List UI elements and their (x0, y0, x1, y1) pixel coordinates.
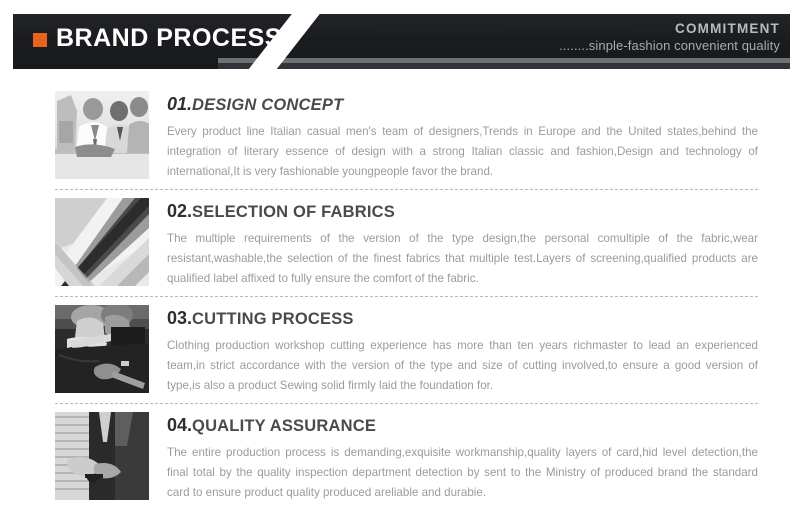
section-description: The entire production process is demandi… (167, 443, 758, 503)
section-description: Clothing production workshop cutting exp… (167, 336, 758, 396)
commitment-subtitle: ........sinple-fashion convenient qualit… (559, 37, 780, 55)
section-name: DESIGN CONCEPT (192, 96, 343, 114)
section-body: 03.CUTTING PROCESS Clothing production w… (167, 302, 803, 404)
brand-process-page: BRAND PROCESS COMMITMENT ........sinple-… (0, 0, 803, 525)
header-banner: BRAND PROCESS COMMITMENT ........sinple-… (13, 14, 790, 69)
page-title: BRAND PROCESS (56, 24, 282, 53)
section-number: 02. (167, 201, 192, 221)
process-sections-list: 01.DESIGN CONCEPT Every product line Ita… (0, 83, 803, 511)
section-body: 02.SELECTION OF FABRICS The multiple req… (167, 195, 803, 297)
section-body: 04.QUALITY ASSURANCE The entire producti… (167, 409, 803, 511)
commitment-title: COMMITMENT (559, 21, 780, 37)
section-heading: 03.CUTTING PROCESS (167, 308, 758, 329)
section-heading: 04.QUALITY ASSURANCE (167, 415, 758, 436)
section-description: The multiple requirements of the version… (167, 229, 758, 289)
process-section: 04.QUALITY ASSURANCE The entire producti… (0, 404, 803, 511)
section-heading: 01.DESIGN CONCEPT (167, 94, 758, 115)
designers-at-table-photo (55, 91, 149, 179)
banner-dark-strip (218, 63, 790, 69)
fabric-cutting-photo (55, 305, 149, 393)
fabric-rolls-photo (55, 198, 149, 286)
section-description: Every product line Italian casual men's … (167, 122, 758, 182)
quality-inspection-photo (55, 412, 149, 500)
commitment-block: COMMITMENT ........sinple-fashion conven… (559, 21, 780, 55)
brand-title-block: BRAND PROCESS (33, 24, 282, 53)
section-number: 04. (167, 415, 192, 435)
process-section: 01.DESIGN CONCEPT Every product line Ita… (0, 83, 803, 190)
section-name: QUALITY ASSURANCE (192, 417, 376, 435)
section-heading: 02.SELECTION OF FABRICS (167, 201, 758, 222)
section-body: 01.DESIGN CONCEPT Every product line Ita… (167, 88, 803, 190)
section-name: CUTTING PROCESS (192, 310, 354, 328)
section-number: 01. (167, 94, 192, 114)
process-section: 02.SELECTION OF FABRICS The multiple req… (0, 190, 803, 297)
section-name: SELECTION OF FABRICS (192, 203, 395, 221)
orange-square-icon (33, 33, 47, 47)
section-number: 03. (167, 308, 192, 328)
process-section: 03.CUTTING PROCESS Clothing production w… (0, 297, 803, 404)
